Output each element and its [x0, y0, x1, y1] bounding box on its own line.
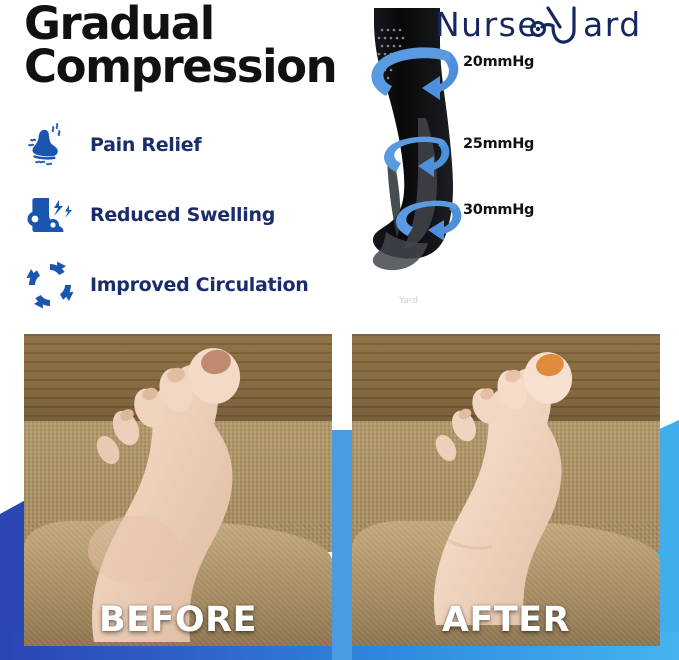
benefit-row-pain-relief: Pain Relief — [22, 110, 322, 180]
product-infographic: Gradual Compression Nurse ard — [0, 0, 679, 660]
benefit-label: Reduced Swelling — [90, 204, 275, 226]
benefits-list: Pain Relief Reduced Swelling — [22, 110, 322, 320]
page-title: Gradual Compression — [24, 2, 336, 88]
brand-logo: Nurse ard — [435, 0, 679, 48]
benefit-row-reduced-swelling: Reduced Swelling — [22, 180, 322, 250]
benefit-label: Improved Circulation — [90, 274, 309, 296]
sock-brand-text: Yard — [398, 296, 418, 306]
compression-label-30mmhg: 30mmHg — [463, 202, 534, 218]
before-label: BEFORE — [24, 600, 332, 640]
compression-sock-icon: Yard — [352, 0, 482, 325]
compression-label-20mmhg: 20mmHg — [463, 54, 534, 70]
stethoscope-icon — [542, 8, 574, 42]
brand-word-one: Nurse — [435, 5, 539, 44]
after-photo: AFTER — [352, 334, 660, 646]
benefit-label: Pain Relief — [90, 134, 201, 156]
before-photo: BEFORE — [24, 334, 332, 646]
after-label: AFTER — [352, 600, 660, 640]
photo-divider — [332, 430, 352, 660]
compression-label-25mmhg: 25mmHg — [463, 136, 534, 152]
brand-word-two: ard — [583, 5, 642, 44]
circulation-arrows-icon — [22, 257, 78, 313]
foot-swelling-icon — [22, 187, 78, 243]
benefit-row-improved-circulation: Improved Circulation — [22, 250, 322, 320]
foot-pain-icon — [22, 117, 78, 173]
